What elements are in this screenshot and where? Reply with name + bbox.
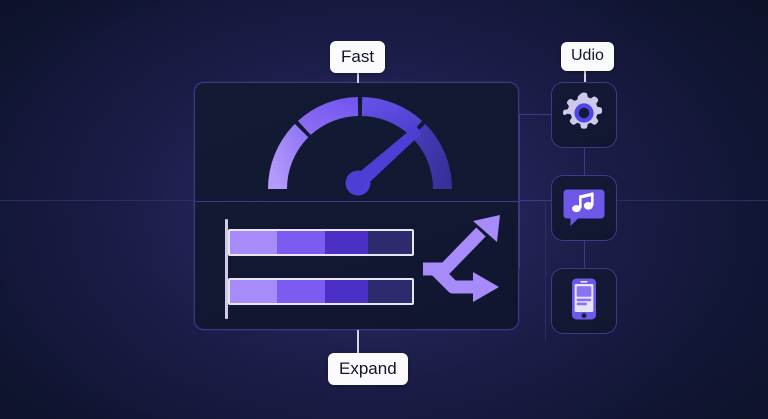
music-icon-tile[interactable] [551, 175, 617, 241]
bar-segment [277, 231, 324, 254]
speed-gauge [265, 93, 455, 198]
bar-segment [230, 280, 277, 303]
table-row [228, 278, 414, 305]
branching-arrow [405, 215, 515, 323]
bar-segment [277, 280, 324, 303]
main-panel [194, 82, 519, 330]
connector-gear [519, 114, 551, 115]
connector-elbow [519, 114, 520, 200]
bar-chart [209, 215, 509, 323]
panel-divider [195, 201, 518, 202]
table-row [228, 229, 414, 256]
mobile-phone-icon [562, 276, 606, 327]
illustration-canvas: Fast Expand Udio [0, 0, 768, 419]
bar-segment [325, 280, 369, 303]
connector-music [519, 200, 551, 201]
music-note-chat-icon [560, 182, 608, 235]
udio-label: Udio [561, 42, 614, 71]
gear-icon-tile[interactable] [551, 82, 617, 148]
connector-gear-music [584, 148, 585, 175]
fast-label: Fast [330, 41, 385, 73]
arrow-up-branch [423, 232, 481, 269]
gauge-segment-1 [277, 131, 301, 189]
bar-segment [230, 231, 277, 254]
arrow-right-head [473, 272, 499, 302]
arrow-right-branch [435, 269, 477, 287]
gauge-segment-4 [419, 131, 443, 189]
gear-icon [561, 90, 607, 141]
bar-segment [325, 231, 369, 254]
gauge-needle [346, 126, 423, 196]
gauge-segment-2 [304, 107, 358, 128]
background-connector-vertical [545, 200, 546, 340]
background-connector-left [0, 200, 194, 201]
phone-icon-tile[interactable] [551, 268, 617, 334]
connector-music-phone [584, 241, 585, 268]
expand-label-stem [357, 330, 359, 354]
gauge-segment-3 [362, 107, 416, 128]
expand-label: Expand [328, 353, 408, 385]
connector-phone-vertical [519, 200, 520, 268]
